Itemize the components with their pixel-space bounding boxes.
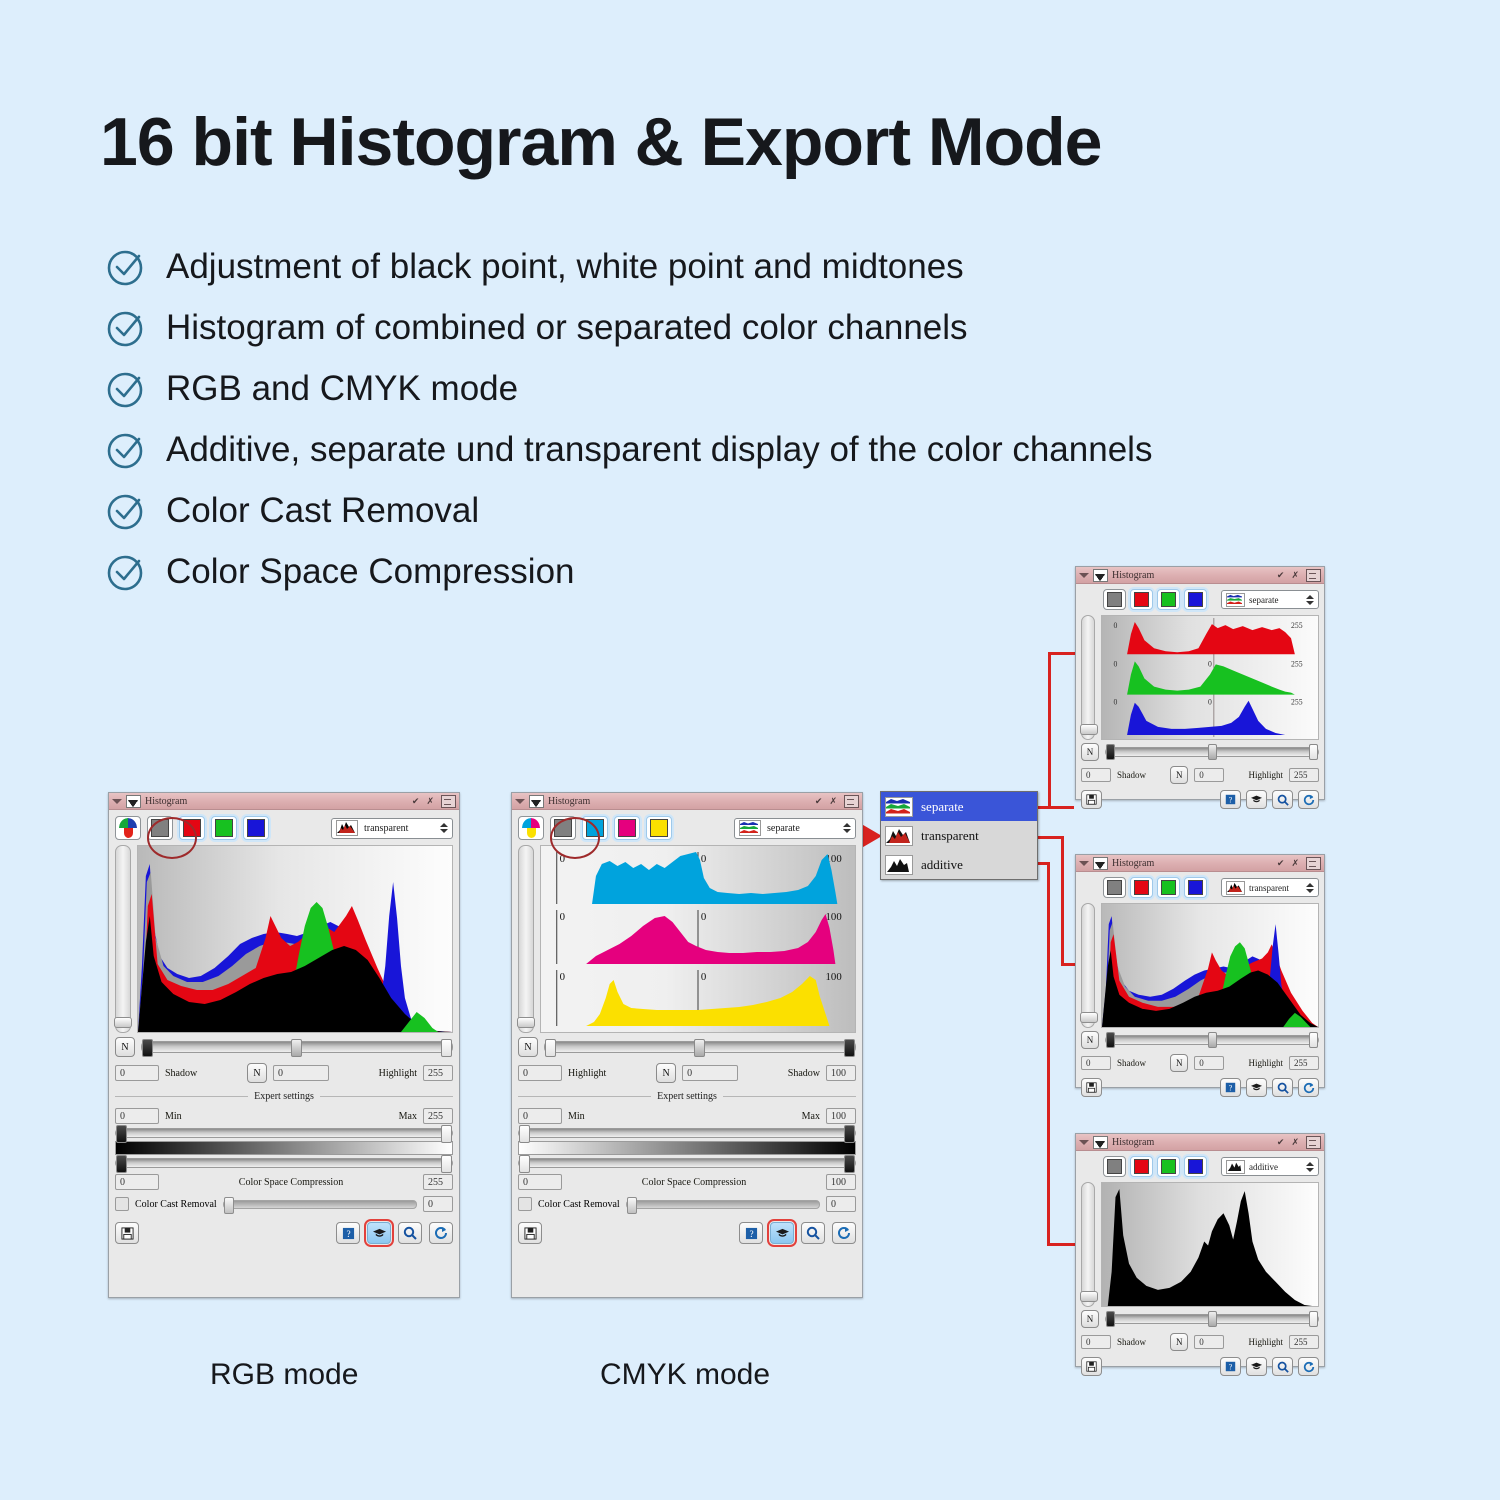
neutral-button[interactable]: N bbox=[1170, 766, 1188, 784]
vertical-scale-slider[interactable] bbox=[518, 845, 534, 1033]
dialog-titlebar[interactable]: Histogram ✔ ✗ bbox=[512, 793, 862, 810]
close-button[interactable]: ✗ bbox=[426, 797, 434, 806]
red-channel-swatch[interactable] bbox=[1130, 1156, 1153, 1177]
red-channel-swatch[interactable] bbox=[1130, 877, 1153, 898]
confirm-button[interactable]: ✔ bbox=[1277, 1138, 1285, 1147]
page-title: 16 bit Histogram & Export Mode bbox=[100, 103, 1101, 181]
graduation-cap-icon[interactable] bbox=[1246, 1357, 1267, 1376]
refresh-icon[interactable] bbox=[1298, 1078, 1319, 1097]
confirm-button[interactable]: ✔ bbox=[1277, 571, 1285, 580]
input-range-slider[interactable] bbox=[115, 1128, 453, 1138]
output-black-handle[interactable] bbox=[116, 1155, 127, 1173]
list-item-label: Color Cast Removal bbox=[166, 493, 479, 528]
separate-histogram-icon bbox=[739, 820, 761, 836]
blue-channel-swatch[interactable] bbox=[1184, 589, 1207, 610]
help-icon[interactable]: ? bbox=[336, 1222, 360, 1244]
gray-channel-swatch[interactable] bbox=[1103, 1156, 1126, 1177]
black-point-handle[interactable] bbox=[1106, 1311, 1115, 1327]
menu-item-label: transparent bbox=[921, 828, 979, 844]
svg-text:?: ? bbox=[1229, 1363, 1233, 1372]
highlight-input[interactable]: 0 bbox=[518, 1065, 562, 1081]
color-cast-removal-row: Color Cast Removal 0 bbox=[115, 1196, 453, 1212]
help-icon[interactable]: ? bbox=[1220, 1357, 1241, 1376]
highlight-input[interactable]: 255 bbox=[1289, 768, 1319, 782]
color-cast-removal-row: Color Cast Removal 0 bbox=[518, 1196, 856, 1212]
tonal-range-slider-row[interactable]: N bbox=[115, 1037, 453, 1057]
highlight-label: Highlight bbox=[1249, 1337, 1284, 1347]
svg-text:0: 0 bbox=[1114, 659, 1118, 668]
help-icon[interactable]: ? bbox=[739, 1222, 763, 1244]
white-point-handle[interactable] bbox=[441, 1039, 452, 1057]
magnifier-icon[interactable] bbox=[1272, 1078, 1293, 1097]
refresh-icon[interactable] bbox=[429, 1222, 453, 1244]
output-range-slider[interactable] bbox=[518, 1158, 856, 1168]
histogram-icon bbox=[1093, 857, 1108, 870]
dialog-title: Histogram bbox=[1112, 1137, 1154, 1148]
tonal-range-slider-row[interactable]: N bbox=[1081, 1031, 1319, 1049]
gray-channel-swatch[interactable] bbox=[1103, 589, 1126, 610]
shadow-input[interactable]: 0 bbox=[1081, 1056, 1111, 1070]
display-mode-value: transparent bbox=[1249, 883, 1289, 893]
magnifier-icon[interactable] bbox=[398, 1222, 422, 1244]
dialog-title: Histogram bbox=[1112, 570, 1154, 581]
connector-separate-vertical bbox=[1048, 652, 1051, 809]
shadow-label: Shadow bbox=[1117, 1058, 1146, 1068]
dialog-titlebar[interactable]: Histogram ✔ ✗ bbox=[1076, 855, 1324, 872]
cmyk-mode-caption: CMYK mode bbox=[600, 1358, 770, 1392]
min-label: Min bbox=[165, 1111, 182, 1122]
channel-selector-row[interactable]: transparent bbox=[1081, 877, 1319, 898]
slider-handle[interactable] bbox=[627, 1197, 637, 1214]
min-input[interactable]: 0 bbox=[115, 1108, 159, 1124]
highlight-label: Highlight bbox=[379, 1068, 417, 1079]
input-white-handle[interactable] bbox=[844, 1125, 855, 1143]
histogram-canvas-additive bbox=[1101, 1182, 1319, 1307]
slider-handle[interactable] bbox=[224, 1197, 234, 1214]
dialog-button-row[interactable]: ? bbox=[1081, 1078, 1319, 1097]
export-icon[interactable] bbox=[1306, 1136, 1321, 1149]
shadow-highlight-row: 0 Shadow N 0 Highlight 255 bbox=[1081, 1333, 1319, 1351]
gray-channel-swatch[interactable] bbox=[1103, 877, 1126, 898]
blue-channel-swatch[interactable] bbox=[1184, 1156, 1207, 1177]
highlight-label: Highlight bbox=[1249, 770, 1284, 780]
midtone-handle[interactable] bbox=[1208, 744, 1217, 760]
channel-selector-row[interactable]: separate bbox=[518, 816, 856, 840]
black-point-handle[interactable] bbox=[545, 1039, 556, 1057]
input-range-slider[interactable] bbox=[518, 1128, 856, 1138]
neutral-button[interactable]: N bbox=[1081, 1310, 1099, 1328]
dialog-titlebar[interactable]: Histogram ✔ ✗ bbox=[1076, 567, 1324, 584]
white-point-handle[interactable] bbox=[1309, 744, 1318, 760]
check-circle-icon bbox=[104, 367, 148, 411]
svg-text:?: ? bbox=[749, 1230, 753, 1240]
list-item: Color Cast Removal bbox=[104, 480, 1152, 541]
dialog-button-row[interactable]: ? bbox=[1081, 1357, 1319, 1376]
shadow-label: Shadow bbox=[788, 1068, 820, 1079]
additive-histogram-icon bbox=[885, 855, 913, 875]
output-range-slider[interactable] bbox=[115, 1158, 453, 1168]
dialog-button-row[interactable]: ? bbox=[1081, 790, 1319, 809]
histogram-canvas-rgb-transparent-preview bbox=[1101, 903, 1319, 1028]
menu-item-separate[interactable]: separate bbox=[881, 792, 1037, 821]
midtone-handle[interactable] bbox=[1208, 1311, 1217, 1327]
close-button[interactable]: ✗ bbox=[1291, 1138, 1299, 1147]
svg-text:100: 100 bbox=[826, 911, 843, 923]
chevron-down-icon[interactable] bbox=[515, 799, 525, 804]
slider-knob[interactable] bbox=[1080, 1012, 1098, 1023]
check-circle-icon bbox=[104, 550, 148, 594]
slider-knob[interactable] bbox=[114, 1017, 132, 1028]
neutral-button[interactable]: N bbox=[1081, 1031, 1099, 1049]
midtone-input[interactable]: 0 bbox=[682, 1065, 738, 1081]
color-cast-removal-label: Color Cast Removal bbox=[135, 1199, 217, 1210]
input-black-handle[interactable] bbox=[519, 1125, 530, 1143]
svg-text:?: ? bbox=[346, 1230, 350, 1240]
confirm-button[interactable]: ✔ bbox=[1277, 859, 1285, 868]
csc-label: Color Space Compression bbox=[642, 1177, 746, 1188]
yellow-channel-swatch[interactable] bbox=[646, 816, 672, 840]
expert-settings-divider: Expert settings bbox=[518, 1091, 856, 1102]
green-channel-swatch[interactable] bbox=[1157, 877, 1180, 898]
neutral-button[interactable]: N bbox=[247, 1063, 267, 1083]
max-input[interactable]: 100 bbox=[826, 1108, 856, 1124]
blue-channel-swatch[interactable] bbox=[1184, 877, 1207, 898]
tonal-range-slider[interactable] bbox=[141, 1041, 453, 1053]
menu-item-transparent[interactable]: transparent bbox=[881, 821, 1037, 850]
close-button[interactable]: ✗ bbox=[1291, 859, 1299, 868]
neutral-button[interactable]: N bbox=[1170, 1333, 1188, 1351]
histogram-icon bbox=[126, 795, 141, 808]
expert-settings-label: Expert settings bbox=[657, 1091, 717, 1102]
color-cast-removal-value[interactable]: 0 bbox=[423, 1196, 453, 1212]
dialog-button-row[interactable]: ? bbox=[115, 1222, 453, 1244]
help-icon[interactable]: ? bbox=[1220, 790, 1241, 809]
svg-text:0: 0 bbox=[1208, 659, 1212, 668]
stepper-arrows-icon[interactable] bbox=[835, 823, 851, 833]
export-icon[interactable] bbox=[441, 795, 456, 808]
cmyk-histogram-dialog[interactable]: Histogram ✔ ✗ sepa bbox=[511, 792, 863, 1298]
slider-knob[interactable] bbox=[1080, 1291, 1098, 1302]
svg-text:0: 0 bbox=[560, 971, 566, 983]
gray-channel-swatch[interactable] bbox=[147, 816, 173, 840]
svg-text:0: 0 bbox=[1114, 698, 1118, 707]
white-point-handle[interactable] bbox=[1309, 1311, 1318, 1327]
channel-selector-row[interactable]: additive bbox=[1081, 1156, 1319, 1177]
export-icon[interactable] bbox=[1306, 569, 1321, 582]
green-channel-swatch[interactable] bbox=[1157, 1156, 1180, 1177]
connector-additive-vertical bbox=[1047, 862, 1050, 1246]
output-black-handle[interactable] bbox=[519, 1155, 530, 1173]
shadow-label: Shadow bbox=[165, 1068, 197, 1079]
rgb-mode-caption: RGB mode bbox=[210, 1358, 358, 1392]
green-channel-swatch[interactable] bbox=[211, 816, 237, 840]
tonal-range-slider-row[interactable]: N bbox=[518, 1037, 856, 1057]
graduation-cap-icon[interactable] bbox=[367, 1222, 391, 1244]
svg-text:?: ? bbox=[1229, 796, 1233, 805]
color-cast-removal-checkbox[interactable] bbox=[115, 1197, 129, 1211]
highlight-input[interactable]: 255 bbox=[423, 1065, 453, 1081]
list-item-label: Color Space Compression bbox=[166, 554, 575, 589]
list-item: Additive, separate und transparent displ… bbox=[104, 419, 1152, 480]
svg-text:0: 0 bbox=[701, 911, 707, 923]
neutral-button[interactable]: N bbox=[518, 1037, 538, 1057]
transparent-histogram-icon bbox=[885, 826, 913, 846]
shadow-input[interactable]: 0 bbox=[1081, 1335, 1111, 1349]
highlight-input[interactable]: 255 bbox=[1289, 1335, 1319, 1349]
vertical-scale-slider[interactable] bbox=[115, 845, 131, 1033]
tonal-range-slider-row[interactable]: N bbox=[1081, 743, 1319, 761]
midtone-handle[interactable] bbox=[694, 1039, 705, 1057]
display-mode-value: separate bbox=[767, 823, 800, 834]
list-item: RGB and CMYK mode bbox=[104, 358, 1152, 419]
display-mode-value: separate bbox=[1249, 595, 1278, 605]
export-icon[interactable] bbox=[1306, 857, 1321, 870]
vertical-scale-slider[interactable] bbox=[1081, 903, 1095, 1028]
stepper-arrows-icon[interactable] bbox=[1302, 883, 1314, 893]
highlight-label: Highlight bbox=[568, 1068, 606, 1079]
red-channel-swatch[interactable] bbox=[179, 816, 205, 840]
floppy-save-icon[interactable] bbox=[518, 1222, 542, 1244]
magnifier-icon[interactable] bbox=[801, 1222, 825, 1244]
display-mode-value: transparent bbox=[364, 823, 408, 834]
max-input[interactable]: 255 bbox=[423, 1108, 453, 1124]
cyan-channel-swatch[interactable] bbox=[582, 816, 608, 840]
color-cast-removal-slider[interactable] bbox=[626, 1200, 820, 1209]
close-button[interactable]: ✗ bbox=[1291, 571, 1299, 580]
list-item: Histogram of combined or separated color… bbox=[104, 297, 1152, 358]
histogram-icon bbox=[1093, 569, 1108, 582]
menu-item-additive[interactable]: additive bbox=[881, 850, 1037, 879]
feature-list: Adjustment of black point, white point a… bbox=[104, 236, 1152, 602]
shadow-input[interactable]: 100 bbox=[826, 1065, 856, 1081]
display-mode-value: additive bbox=[1249, 1162, 1278, 1172]
additive-histogram-icon bbox=[1226, 1160, 1245, 1174]
midtone-handle[interactable] bbox=[1208, 1032, 1217, 1048]
histogram-canvas-cmyk-separate: 0 0 100 0 0 100 0 0 100 bbox=[540, 845, 856, 1033]
green-channel-swatch[interactable] bbox=[1157, 589, 1180, 610]
tonal-range-slider[interactable] bbox=[544, 1041, 856, 1053]
white-point-handle[interactable] bbox=[1309, 1032, 1318, 1048]
shadow-label: Shadow bbox=[1117, 770, 1146, 780]
display-mode-dropdown[interactable]: separate bbox=[734, 818, 856, 839]
confirm-button[interactable]: ✔ bbox=[815, 797, 823, 806]
input-black-handle[interactable] bbox=[116, 1125, 127, 1143]
separate-preview-dialog[interactable]: Histogram ✔ ✗ separate bbox=[1075, 566, 1325, 800]
red-channel-swatch[interactable] bbox=[1130, 589, 1153, 610]
svg-text:0: 0 bbox=[1208, 698, 1212, 707]
midtone-input[interactable]: 0 bbox=[1194, 1056, 1224, 1070]
vertical-scale-slider[interactable] bbox=[1081, 615, 1095, 740]
graduation-cap-icon[interactable] bbox=[770, 1222, 794, 1244]
rgb-pie-icon[interactable] bbox=[115, 816, 141, 840]
midtone-input[interactable]: 0 bbox=[273, 1065, 329, 1081]
black-point-handle[interactable] bbox=[142, 1039, 153, 1057]
chevron-down-icon[interactable] bbox=[1079, 573, 1089, 578]
csc-max-input[interactable]: 255 bbox=[423, 1174, 453, 1190]
additive-preview-dialog[interactable]: Histogram ✔ ✗ additive bbox=[1075, 1133, 1325, 1367]
floppy-save-icon[interactable] bbox=[1081, 1078, 1102, 1097]
stepper-arrows-icon[interactable] bbox=[432, 823, 448, 833]
chevron-down-icon[interactable] bbox=[1079, 861, 1089, 866]
channel-selector-row[interactable]: separate bbox=[1081, 589, 1319, 610]
transparent-preview-dialog[interactable]: Histogram ✔ ✗ transparent bbox=[1075, 854, 1325, 1088]
neutral-button[interactable]: N bbox=[115, 1037, 135, 1057]
list-item-label: RGB and CMYK mode bbox=[166, 371, 518, 406]
max-label: Max bbox=[399, 1111, 417, 1122]
tonal-range-slider[interactable] bbox=[1105, 1314, 1319, 1324]
display-mode-dropdown[interactable]: transparent bbox=[1221, 878, 1319, 897]
graduation-cap-icon[interactable] bbox=[1246, 1078, 1267, 1097]
floppy-save-icon[interactable] bbox=[115, 1222, 139, 1244]
dialog-titlebar[interactable]: Histogram ✔ ✗ bbox=[109, 793, 459, 810]
svg-text:?: ? bbox=[1229, 1084, 1233, 1093]
display-mode-dropdown[interactable]: transparent bbox=[331, 818, 453, 839]
display-mode-dropdown[interactable]: separate bbox=[1221, 590, 1319, 609]
svg-text:255: 255 bbox=[1291, 698, 1303, 707]
export-icon[interactable] bbox=[844, 795, 859, 808]
list-item-label: Additive, separate und transparent displ… bbox=[166, 432, 1152, 467]
slider-knob[interactable] bbox=[1080, 724, 1098, 735]
min-max-row: 0 Min Max 100 bbox=[518, 1108, 856, 1124]
tonal-range-slider[interactable] bbox=[1105, 1035, 1319, 1045]
midtone-input[interactable]: 0 bbox=[1194, 768, 1224, 782]
histogram-canvas-rgb-separate: 0255 00255 00255 bbox=[1101, 615, 1319, 740]
shadow-label: Shadow bbox=[1117, 1337, 1146, 1347]
dialog-title: Histogram bbox=[145, 796, 187, 807]
close-button[interactable]: ✗ bbox=[829, 797, 837, 806]
list-item: Color Space Compression bbox=[104, 541, 1152, 602]
highlight-label: Highlight bbox=[1249, 1058, 1284, 1068]
expert-settings-label: Expert settings bbox=[254, 1091, 314, 1102]
svg-text:0: 0 bbox=[560, 911, 566, 923]
refresh-icon[interactable] bbox=[832, 1222, 856, 1244]
svg-text:0: 0 bbox=[1114, 621, 1118, 630]
max-label: Max bbox=[802, 1111, 820, 1122]
separate-histogram-icon bbox=[1226, 593, 1245, 607]
shadow-highlight-row: 0 Shadow N 0 Highlight 255 bbox=[115, 1063, 453, 1083]
tone-gradient-bar bbox=[518, 1141, 856, 1155]
expert-settings-divider: Expert settings bbox=[115, 1091, 453, 1102]
shadow-highlight-row: 0 Shadow N 0 Highlight 255 bbox=[1081, 766, 1319, 784]
dialog-title: Histogram bbox=[548, 796, 590, 807]
tonal-range-slider-row[interactable]: N bbox=[1081, 1310, 1319, 1328]
tonal-range-slider[interactable] bbox=[1105, 747, 1319, 757]
menu-item-label: separate bbox=[921, 799, 964, 815]
confirm-button[interactable]: ✔ bbox=[412, 797, 420, 806]
list-item-label: Adjustment of black point, white point a… bbox=[166, 249, 964, 284]
dialog-button-row[interactable]: ? bbox=[518, 1222, 856, 1244]
histogram-canvas-rgb-transparent bbox=[137, 845, 453, 1033]
neutral-button[interactable]: N bbox=[1170, 1054, 1188, 1072]
shadow-input[interactable]: 0 bbox=[115, 1065, 159, 1081]
floppy-save-icon[interactable] bbox=[1081, 1357, 1102, 1376]
color-cast-removal-label: Color Cast Removal bbox=[538, 1199, 620, 1210]
histogram-icon bbox=[529, 795, 544, 808]
histogram-icon bbox=[1093, 1136, 1108, 1149]
chevron-down-icon[interactable] bbox=[1079, 1140, 1089, 1145]
color-cast-removal-value[interactable]: 0 bbox=[826, 1196, 856, 1212]
svg-text:255: 255 bbox=[1291, 621, 1303, 630]
list-item-label: Histogram of combined or separated color… bbox=[166, 310, 968, 345]
tone-gradient-bar bbox=[115, 1141, 453, 1155]
separate-histogram-icon bbox=[885, 797, 913, 817]
black-point-handle[interactable] bbox=[1106, 1032, 1115, 1048]
chevron-down-icon[interactable] bbox=[112, 799, 122, 804]
blue-channel-swatch[interactable] bbox=[243, 816, 269, 840]
output-white-handle[interactable] bbox=[441, 1155, 452, 1173]
color-cast-removal-slider[interactable] bbox=[223, 1200, 417, 1209]
midtone-input[interactable]: 0 bbox=[1194, 1335, 1224, 1349]
csc-label: Color Space Compression bbox=[239, 1177, 343, 1188]
help-icon[interactable]: ? bbox=[1220, 1078, 1241, 1097]
refresh-icon[interactable] bbox=[1298, 790, 1319, 809]
black-point-handle[interactable] bbox=[1106, 744, 1115, 760]
transparent-histogram-icon bbox=[336, 820, 358, 836]
connector-transparent-vertical bbox=[1061, 836, 1064, 966]
midtone-handle[interactable] bbox=[291, 1039, 302, 1057]
channel-selector-row[interactable]: transparent bbox=[115, 816, 453, 840]
gray-channel-swatch[interactable] bbox=[550, 816, 576, 840]
cmyk-pie-icon[interactable] bbox=[518, 816, 544, 840]
check-circle-icon bbox=[104, 245, 148, 289]
svg-text:0: 0 bbox=[560, 853, 566, 865]
min-max-row: 0 Min Max 255 bbox=[115, 1108, 453, 1124]
color-cast-removal-checkbox[interactable] bbox=[518, 1197, 532, 1211]
csc-min-input[interactable]: 0 bbox=[518, 1174, 562, 1190]
shadow-highlight-row: 0 Shadow N 0 Highlight 255 bbox=[1081, 1054, 1319, 1072]
magenta-channel-swatch[interactable] bbox=[614, 816, 640, 840]
refresh-icon[interactable] bbox=[1298, 1357, 1319, 1376]
output-white-handle[interactable] bbox=[844, 1155, 855, 1173]
input-white-handle[interactable] bbox=[441, 1125, 452, 1143]
display-mode-dropdown[interactable]: additive bbox=[1221, 1157, 1319, 1176]
color-space-compression-row: 0 Color Space Compression 100 bbox=[518, 1174, 856, 1190]
check-circle-icon bbox=[104, 428, 148, 472]
neutral-button[interactable]: N bbox=[656, 1063, 676, 1083]
shadow-highlight-row: 0 Highlight N 0 Shadow 100 bbox=[518, 1063, 856, 1083]
csc-max-input[interactable]: 100 bbox=[826, 1174, 856, 1190]
shadow-input[interactable]: 0 bbox=[1081, 768, 1111, 782]
white-point-handle[interactable] bbox=[844, 1039, 855, 1057]
display-mode-menu[interactable]: separate transparent additive bbox=[880, 791, 1038, 880]
slider-knob[interactable] bbox=[517, 1017, 535, 1028]
transparent-histogram-icon bbox=[1226, 881, 1245, 895]
svg-text:255: 255 bbox=[1291, 659, 1303, 668]
dialog-titlebar[interactable]: Histogram ✔ ✗ bbox=[1076, 1134, 1324, 1151]
floppy-save-icon[interactable] bbox=[1081, 790, 1102, 809]
min-label: Min bbox=[568, 1111, 585, 1122]
neutral-button[interactable]: N bbox=[1081, 743, 1099, 761]
vertical-scale-slider[interactable] bbox=[1081, 1182, 1095, 1307]
list-item: Adjustment of black point, white point a… bbox=[104, 236, 1152, 297]
stepper-arrows-icon[interactable] bbox=[1302, 595, 1314, 605]
min-input[interactable]: 0 bbox=[518, 1108, 562, 1124]
highlight-input[interactable]: 255 bbox=[1289, 1056, 1319, 1070]
magnifier-icon[interactable] bbox=[1272, 1357, 1293, 1376]
svg-text:0: 0 bbox=[701, 853, 707, 865]
check-circle-icon bbox=[104, 489, 148, 533]
menu-item-label: additive bbox=[921, 857, 963, 873]
svg-text:0: 0 bbox=[701, 971, 707, 983]
stepper-arrows-icon[interactable] bbox=[1302, 1162, 1314, 1172]
graduation-cap-icon[interactable] bbox=[1246, 790, 1267, 809]
check-circle-icon bbox=[104, 306, 148, 350]
rgb-histogram-dialog[interactable]: Histogram ✔ ✗ tran bbox=[108, 792, 460, 1298]
color-space-compression-row: 0 Color Space Compression 255 bbox=[115, 1174, 453, 1190]
magnifier-icon[interactable] bbox=[1272, 790, 1293, 809]
csc-min-input[interactable]: 0 bbox=[115, 1174, 159, 1190]
dialog-title: Histogram bbox=[1112, 858, 1154, 869]
